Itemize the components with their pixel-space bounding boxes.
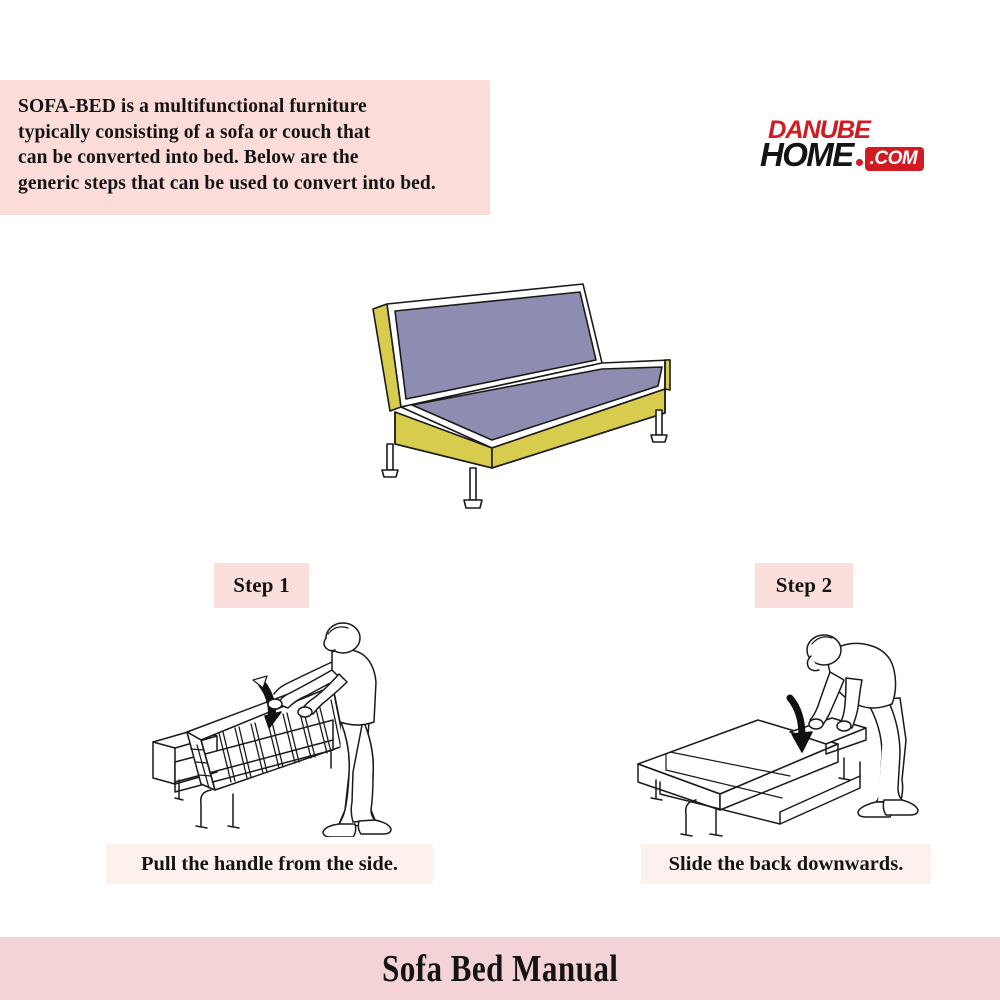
footer-banner: Sofa Bed Manual (0, 937, 1000, 1000)
step-1-label: Step 1 (214, 563, 309, 608)
step-2-figure (630, 612, 930, 837)
step-1-figure (135, 612, 420, 837)
logo-dot-icon (856, 159, 863, 166)
sofa-bed-manual-page: SOFA-BED is a multifunctional furniture … (0, 0, 1000, 1000)
logo-second-row: HOME .COM (760, 138, 924, 172)
step-1-caption: Pull the handle from the side. (106, 844, 433, 884)
intro-description-text: SOFA-BED is a multifunctional furniture … (18, 94, 480, 196)
slide-back-svg (630, 612, 930, 837)
footer-title: Sofa Bed Manual (382, 947, 618, 991)
pull-handle-svg (135, 612, 420, 837)
hero-sofa-svg (340, 268, 700, 513)
logo-home-text: HOME (760, 138, 853, 172)
hero-sofa-illustration (340, 268, 700, 513)
step-2-caption: Slide the back downwards. (641, 844, 931, 884)
intro-description-box: SOFA-BED is a multifunctional furniture … (0, 80, 490, 215)
step-2-label: Step 2 (755, 563, 853, 608)
danube-home-logo: DANUBE HOME .COM (760, 116, 970, 178)
logo-com-badge: .COM (865, 147, 925, 171)
